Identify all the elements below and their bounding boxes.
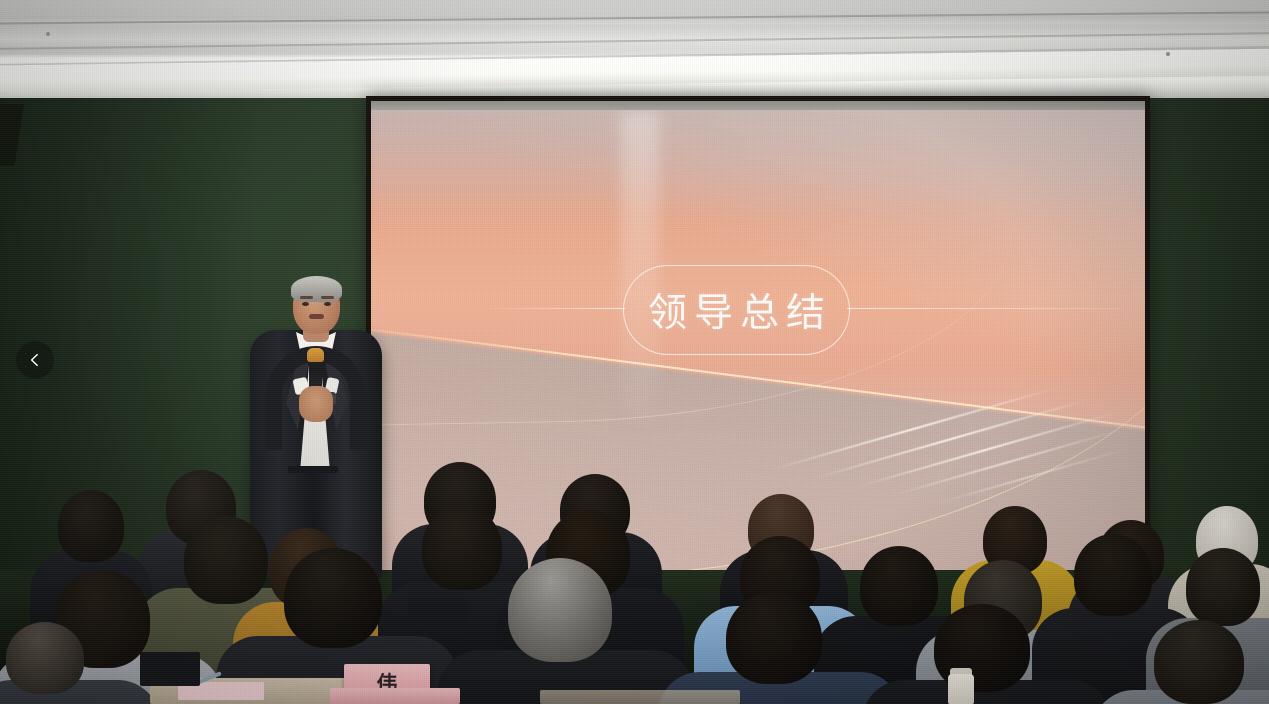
audience-member — [0, 622, 130, 704]
slide-title: 领导总结 — [641, 282, 832, 338]
ceiling-fixing-screw — [46, 32, 50, 36]
audience-head — [726, 592, 822, 684]
slide-streak-line — [890, 429, 1121, 497]
microphone-head — [307, 348, 324, 362]
audience-member — [472, 558, 658, 704]
slide-rule-left — [489, 308, 625, 309]
speaker-eyebrow — [321, 296, 334, 299]
previous-photo-button[interactable] — [16, 341, 54, 379]
photo-viewer-canvas: 领导总结 — [0, 0, 1269, 704]
desk — [540, 690, 740, 704]
laptop — [408, 598, 468, 624]
audience-member — [690, 592, 866, 704]
audience-head — [1154, 620, 1244, 704]
speaker-eye — [302, 302, 309, 306]
ceiling-seam — [0, 32, 1269, 50]
speaker-mouth — [309, 314, 324, 319]
desk-front-panel — [330, 688, 460, 704]
speaker-hands — [299, 386, 333, 422]
slide-streak-line — [857, 411, 1117, 487]
audience-head — [1074, 534, 1152, 616]
audience-member — [1120, 620, 1269, 704]
audience-head — [58, 490, 124, 562]
speaker-belt — [288, 466, 338, 473]
audience-head — [6, 622, 84, 694]
chevron-left-icon — [27, 352, 43, 368]
speaker-eye — [324, 302, 331, 306]
ceiling-seam — [0, 11, 1269, 24]
slide-streak-line — [813, 398, 1092, 480]
audience-head — [1186, 548, 1260, 626]
audience-head — [508, 558, 612, 662]
speaker-hair — [291, 276, 342, 302]
laptop — [140, 652, 200, 686]
speaker-eyebrow — [300, 296, 313, 299]
thermos-cup — [948, 674, 974, 704]
slide-rule-right — [847, 308, 1119, 309]
ceiling-fixing-screw — [1166, 52, 1170, 56]
audience-member — [896, 604, 1076, 704]
audience-head — [284, 548, 382, 648]
slide-title-pill: 领导总结 — [623, 265, 850, 355]
